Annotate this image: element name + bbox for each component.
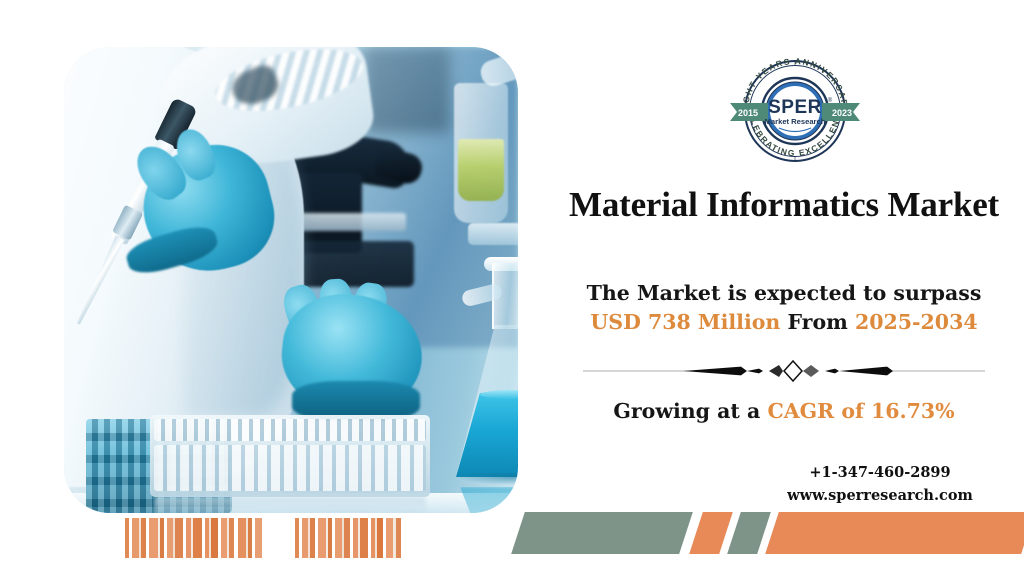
cagr-value: CAGR of 16.73% xyxy=(767,399,954,423)
ornamental-divider-icon xyxy=(583,356,985,386)
barcode-bar xyxy=(175,518,183,558)
slant-green-large xyxy=(511,512,693,554)
barcode-bar xyxy=(255,518,262,558)
lab-photo xyxy=(64,47,518,513)
forecast-value: USD 738 Million xyxy=(590,310,780,334)
forecast-line-1: The Market is expected to surpass xyxy=(560,279,1008,308)
flask-base-shadow xyxy=(456,473,518,485)
seal-tagline: Market Research xyxy=(765,117,826,126)
well-plate-reflection xyxy=(154,497,426,513)
forecast-line-2: USD 738 Million From 2025-2034 xyxy=(560,308,1008,337)
barcode-bar xyxy=(318,518,326,558)
cagr-prefix: Growing at a xyxy=(613,399,767,423)
contact-block: +1-347-460-2899 www.sperresearch.com xyxy=(760,462,1000,508)
lab-photo-scene xyxy=(64,47,518,513)
forecast-period: 2025-2034 xyxy=(855,310,978,334)
slant-green-small xyxy=(727,512,771,554)
page-title: Material Informatics Market xyxy=(560,186,1008,225)
erlenmeyer-flask xyxy=(456,263,518,493)
glassware-yellow-liquid xyxy=(458,139,504,201)
contact-phone[interactable]: +1-347-460-2899 xyxy=(760,462,1000,485)
barcode-bar xyxy=(386,518,393,558)
barcode-bar xyxy=(149,518,158,558)
seal-year-start: 2015 xyxy=(738,108,758,118)
seal-year-end: 2023 xyxy=(832,108,852,118)
slant-orange-large xyxy=(765,512,1024,554)
forecast-connector: From xyxy=(780,310,855,334)
seal-brand-name: SPER xyxy=(768,97,822,118)
contact-website[interactable]: www.sperresearch.com xyxy=(760,485,1000,508)
barcode-decoration-right xyxy=(295,518,401,558)
barcode-bar xyxy=(360,518,368,558)
anniversary-seal-logo: EIGHT YEARS ANNIVERSARY CELEBRATING EXCE… xyxy=(722,47,868,165)
market-report-banner: EIGHT YEARS ANNIVERSARY CELEBRATING EXCE… xyxy=(0,0,1024,577)
barcode-bar xyxy=(396,518,401,558)
barcode-bar xyxy=(132,518,139,558)
slant-orange-small xyxy=(689,512,733,554)
cagr-statement: Growing at a CAGR of 16.73% xyxy=(560,399,1008,423)
barcode-bar xyxy=(193,518,202,558)
glassware-clamp xyxy=(468,223,518,245)
barcode-bar xyxy=(238,518,246,558)
barcode-bar xyxy=(211,518,218,558)
flask-blue-liquid xyxy=(456,393,518,477)
barcode-bar xyxy=(335,518,342,558)
barcode-decoration-left xyxy=(125,518,262,558)
seal-trademark: ® xyxy=(828,97,833,104)
well-plate xyxy=(150,415,430,497)
market-forecast-statement: The Market is expected to surpass USD 73… xyxy=(560,279,1008,337)
